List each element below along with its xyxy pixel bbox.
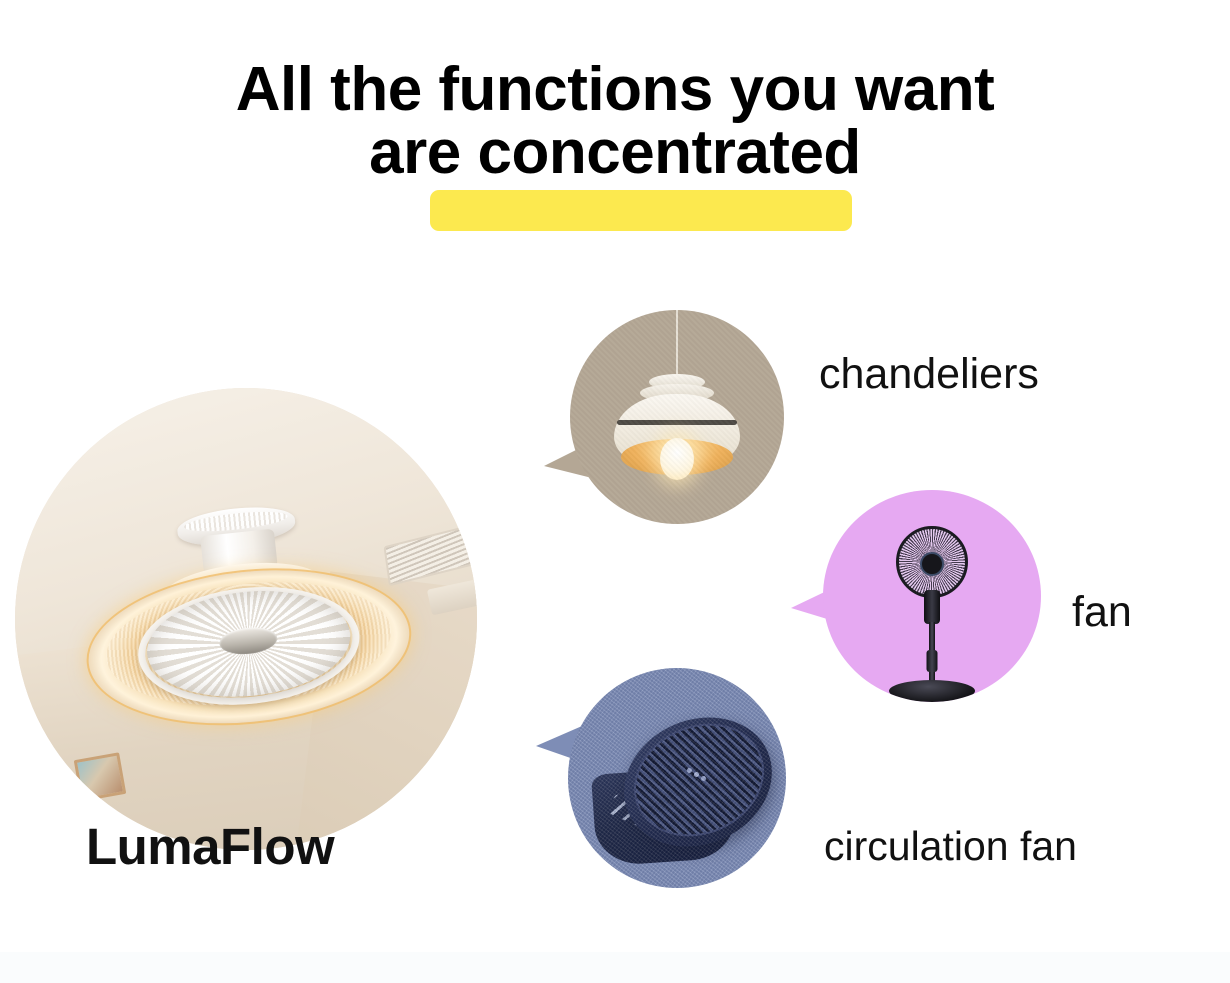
ceiling-fan-light-fixture	[70, 487, 422, 750]
page-title: All the functions you want are concentra…	[0, 58, 1230, 184]
circulator-center-dots	[694, 772, 699, 777]
picture-frame-icon	[74, 752, 127, 801]
label-chandeliers: chandeliers	[819, 350, 1039, 399]
pendant-shade-seam	[617, 420, 737, 425]
bubble-image-fan	[823, 490, 1041, 702]
bubble-image-circulation-fan	[568, 668, 786, 888]
headline-highlight	[430, 190, 852, 231]
circulator-indicator-lights	[607, 792, 654, 829]
bubble-circulation-fan	[568, 668, 786, 888]
pendant-knob-lower	[640, 384, 714, 402]
circulator-head	[603, 694, 786, 869]
circulator-base-body	[591, 765, 737, 867]
pedestal-fan-base	[889, 680, 975, 702]
pendant-shade	[614, 394, 740, 470]
brand-name: LumaFlow	[86, 817, 334, 876]
hero-product-image	[15, 388, 477, 850]
bubble-fan	[823, 490, 1041, 702]
pedestal-fan-collar	[927, 650, 938, 672]
pedestal-fan-motor	[924, 590, 940, 624]
label-circulation-fan: circulation fan	[824, 823, 1077, 870]
pendant-knob-top	[649, 374, 705, 390]
circulator-grill	[616, 703, 782, 856]
pendant-cord	[676, 310, 678, 382]
bottom-divider-band	[0, 952, 1230, 983]
hero-photo-backdrop	[15, 388, 477, 850]
pendant-shade-interior	[621, 439, 733, 475]
label-fan: fan	[1072, 588, 1132, 637]
bubble-chandeliers	[570, 310, 784, 524]
headline-line-1: All the functions you want	[0, 58, 1230, 121]
headline-line-2: are concentrated	[0, 121, 1230, 184]
light-bulb-icon	[660, 438, 694, 480]
bubble-image-chandeliers	[570, 310, 784, 524]
pedestal-fan-hub	[920, 552, 944, 576]
